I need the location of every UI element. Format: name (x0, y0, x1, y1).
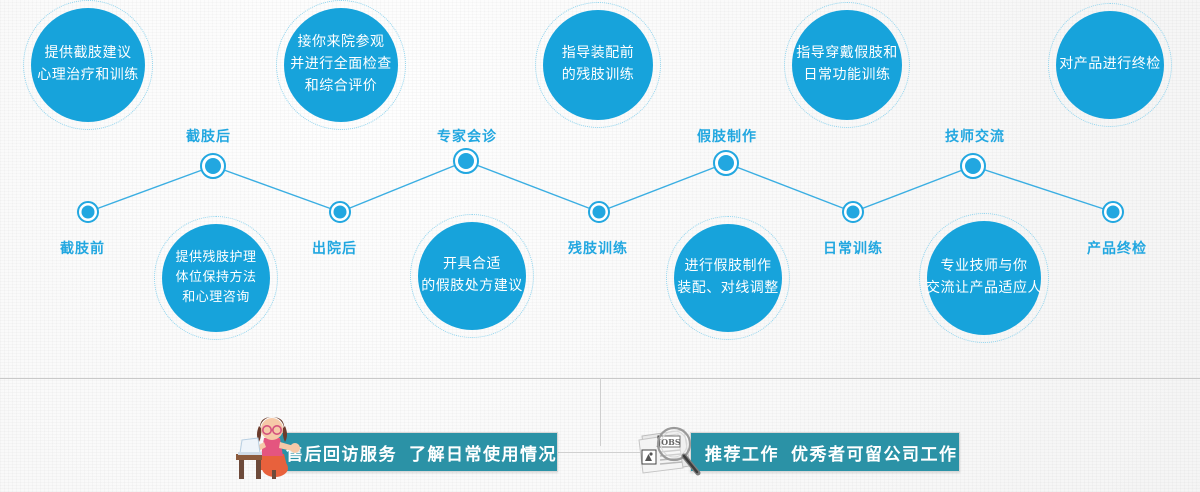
bubble-text-line: 专业技师与你 (941, 256, 1028, 278)
timeline-node-post-amputation[interactable] (200, 153, 226, 179)
bubble-text-line: 心理治疗和训练 (37, 65, 139, 87)
timeline-node-stump-training[interactable] (588, 201, 610, 223)
bubble-final-check[interactable]: 对产品进行终检 (1056, 11, 1164, 119)
timeline-node-final-inspection[interactable] (1102, 201, 1124, 223)
bubble-text-line: 指导装配前 (562, 43, 635, 65)
timeline-node-prosthesis-making[interactable] (713, 150, 739, 176)
bubble-text-line: 指导穿戴假肢和 (796, 43, 898, 65)
vertical-divider (600, 378, 601, 446)
bubble-text-line: 并进行全面检查 (290, 54, 392, 76)
bubble-amputation-advice[interactable]: 提供截肢建议心理治疗和训练 (31, 8, 145, 122)
job-referral-banner[interactable]: 推荐工作优秀者可留公司工作 (690, 432, 960, 472)
timeline-node-expert-consult[interactable] (453, 148, 479, 174)
timeline-node-label-technician-exchange: 技师交流 (945, 126, 1005, 146)
bubble-text-line: 提供残肢护理 (175, 248, 256, 268)
woman-at-desk-icon (234, 416, 310, 484)
timeline-node-technician-exchange[interactable] (960, 153, 986, 179)
job-referral-banner-label: 推荐工作优秀者可留公司工作 (705, 440, 958, 465)
jobs-newspaper-magnifier-icon: JOBS (634, 418, 708, 480)
bubble-wear-guidance[interactable]: 指导穿戴假肢和日常功能训练 (792, 10, 902, 120)
timeline-node-daily-training[interactable] (842, 201, 864, 223)
bubble-text-line: 交流让产品适应人 (926, 278, 1042, 300)
bubble-pre-fit-training[interactable]: 指导装配前的残肢训练 (543, 10, 653, 120)
bubble-prescription[interactable]: 开具合适的假肢处方建议 (418, 222, 526, 330)
bubble-fit-exchange[interactable]: 专业技师与你交流让产品适应人 (927, 221, 1041, 335)
timeline-node-label-prosthesis-making: 假肢制作 (697, 126, 757, 146)
bubble-text-line: 和心理咨询 (182, 288, 250, 308)
bubble-text-line: 对产品进行终检 (1059, 54, 1161, 76)
banner-left-connector-line (558, 452, 604, 453)
timeline-node-pre-amputation[interactable] (77, 201, 99, 223)
bubble-text-line: 装配、对线调整 (677, 278, 779, 300)
bubble-text-line: 日常功能训练 (804, 65, 891, 87)
timeline-node-label-pre-amputation: 截肢前 (60, 238, 105, 258)
bubble-stump-care[interactable]: 提供残肢护理体位保持方法和心理咨询 (162, 224, 270, 332)
timeline-node-label-stump-training: 残肢训练 (568, 238, 628, 258)
bubble-text-line: 和综合评价 (305, 76, 378, 98)
timeline-node-label-after-discharge: 出院后 (312, 238, 357, 258)
timeline-node-after-discharge[interactable] (329, 201, 351, 223)
bubble-fabrication[interactable]: 进行假肢制作装配、对线调整 (674, 224, 782, 332)
bubble-text-line: 的假肢处方建议 (421, 276, 523, 298)
timeline-node-label-final-inspection: 产品终检 (1087, 238, 1147, 258)
page-background: 提供截肢建议心理治疗和训练提供残肢护理体位保持方法和心理咨询接你来院参观并进行全… (0, 0, 1200, 492)
bubble-text-line: 进行假肢制作 (685, 256, 772, 278)
timeline-node-label-expert-consult: 专家会诊 (437, 126, 497, 146)
timeline-node-label-post-amputation: 截肢后 (186, 126, 231, 146)
bubble-text-line: 体位保持方法 (175, 268, 256, 288)
bubble-text-line: 接你来院参观 (298, 32, 385, 54)
bubble-hospital-visit[interactable]: 接你来院参观并进行全面检查和综合评价 (284, 8, 398, 122)
timeline-node-label-daily-training: 日常训练 (823, 238, 883, 258)
after-sales-banner[interactable]: 售后回访服务了解日常使用情况 (268, 432, 558, 472)
bubble-text-line: 开具合适 (443, 254, 501, 276)
after-sales-banner-label: 售后回访服务了解日常使用情况 (286, 440, 557, 465)
bubble-text-line: 提供截肢建议 (45, 43, 132, 65)
bubble-text-line: 的残肢训练 (562, 65, 635, 87)
